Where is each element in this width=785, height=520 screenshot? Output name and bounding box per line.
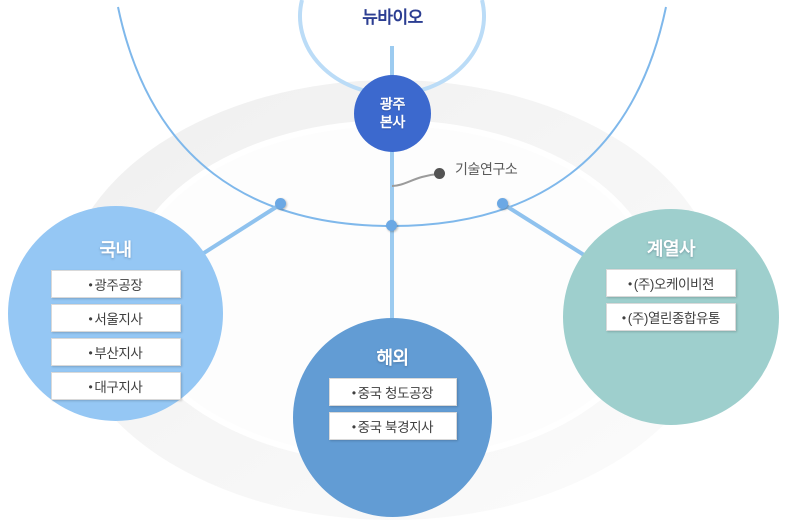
- org-chart-diagram: 뉴바이오 광주 본사 기술연구소 국내 광주공장 서울지사 부산지사 대구지사 …: [0, 0, 785, 520]
- node-group-domestic[interactable]: 국내 광주공장 서울지사 부산지사 대구지사: [8, 206, 223, 421]
- node-group-affiliate[interactable]: 계열사 (주)오케이비젼 (주)열린종합유통: [563, 209, 779, 425]
- list-item[interactable]: 서울지사: [51, 304, 181, 332]
- list-item[interactable]: 중국 청도공장: [329, 378, 457, 406]
- list-item[interactable]: 광주공장: [51, 270, 181, 298]
- group-title-domestic: 국내: [99, 236, 131, 262]
- list-item[interactable]: 대구지사: [51, 372, 181, 400]
- headquarters-label: 광주 본사: [380, 96, 405, 131]
- brand-title: 뉴바이오: [0, 3, 785, 28]
- arc-dot-right: [497, 198, 508, 209]
- arc-dot-left: [275, 198, 286, 209]
- node-group-overseas[interactable]: 해외 중국 청도공장 중국 북경지사: [293, 318, 492, 517]
- list-item[interactable]: (주)오케이비젼: [606, 269, 736, 297]
- arc-dot-center: [386, 220, 397, 231]
- research-lab-dot-icon: [434, 168, 445, 179]
- list-item[interactable]: 부산지사: [51, 338, 181, 366]
- research-lab-label: 기술연구소: [455, 159, 517, 179]
- group-title-overseas: 해외: [376, 344, 408, 370]
- list-item[interactable]: 중국 북경지사: [329, 412, 457, 440]
- group-title-affiliate: 계열사: [647, 235, 695, 261]
- node-headquarters[interactable]: 광주 본사: [354, 75, 431, 152]
- list-item[interactable]: (주)열린종합유통: [606, 303, 736, 331]
